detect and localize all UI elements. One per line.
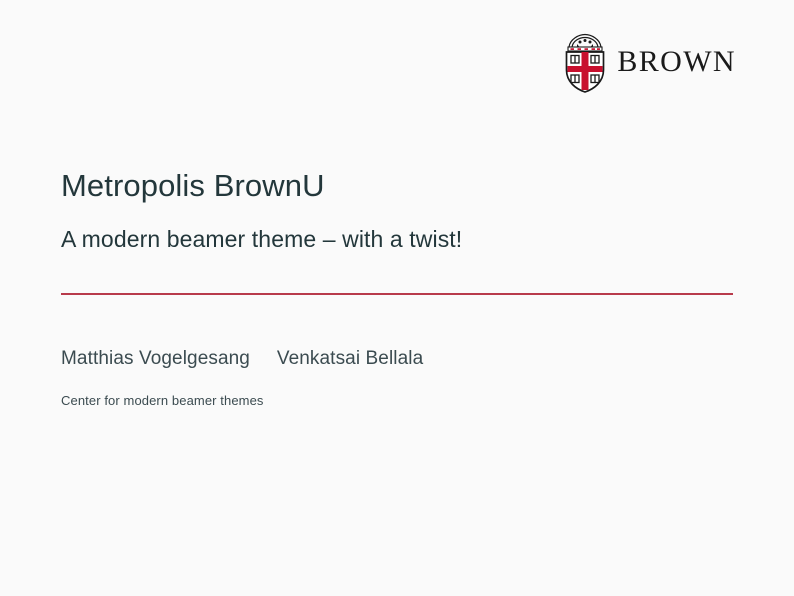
author-names: Matthias Vogelgesang Venkatsai Bellala	[61, 347, 733, 371]
brown-university-shield-icon	[562, 32, 608, 94]
title-block: Metropolis BrownU A modern beamer theme …	[61, 168, 733, 253]
slide-title: Metropolis BrownU	[61, 168, 733, 204]
institute-name: Center for modern beamer themes	[61, 393, 733, 410]
slide-subtitle: A modern beamer theme – with a twist!	[61, 226, 733, 254]
author-block: Matthias Vogelgesang Venkatsai Bellala C…	[61, 347, 733, 410]
title-separator-rule	[61, 293, 733, 295]
title-slide: BROWN Metropolis BrownU A modern beamer …	[0, 0, 794, 596]
brown-wordmark: BROWN	[617, 47, 736, 79]
brown-logo: BROWN	[562, 32, 736, 94]
